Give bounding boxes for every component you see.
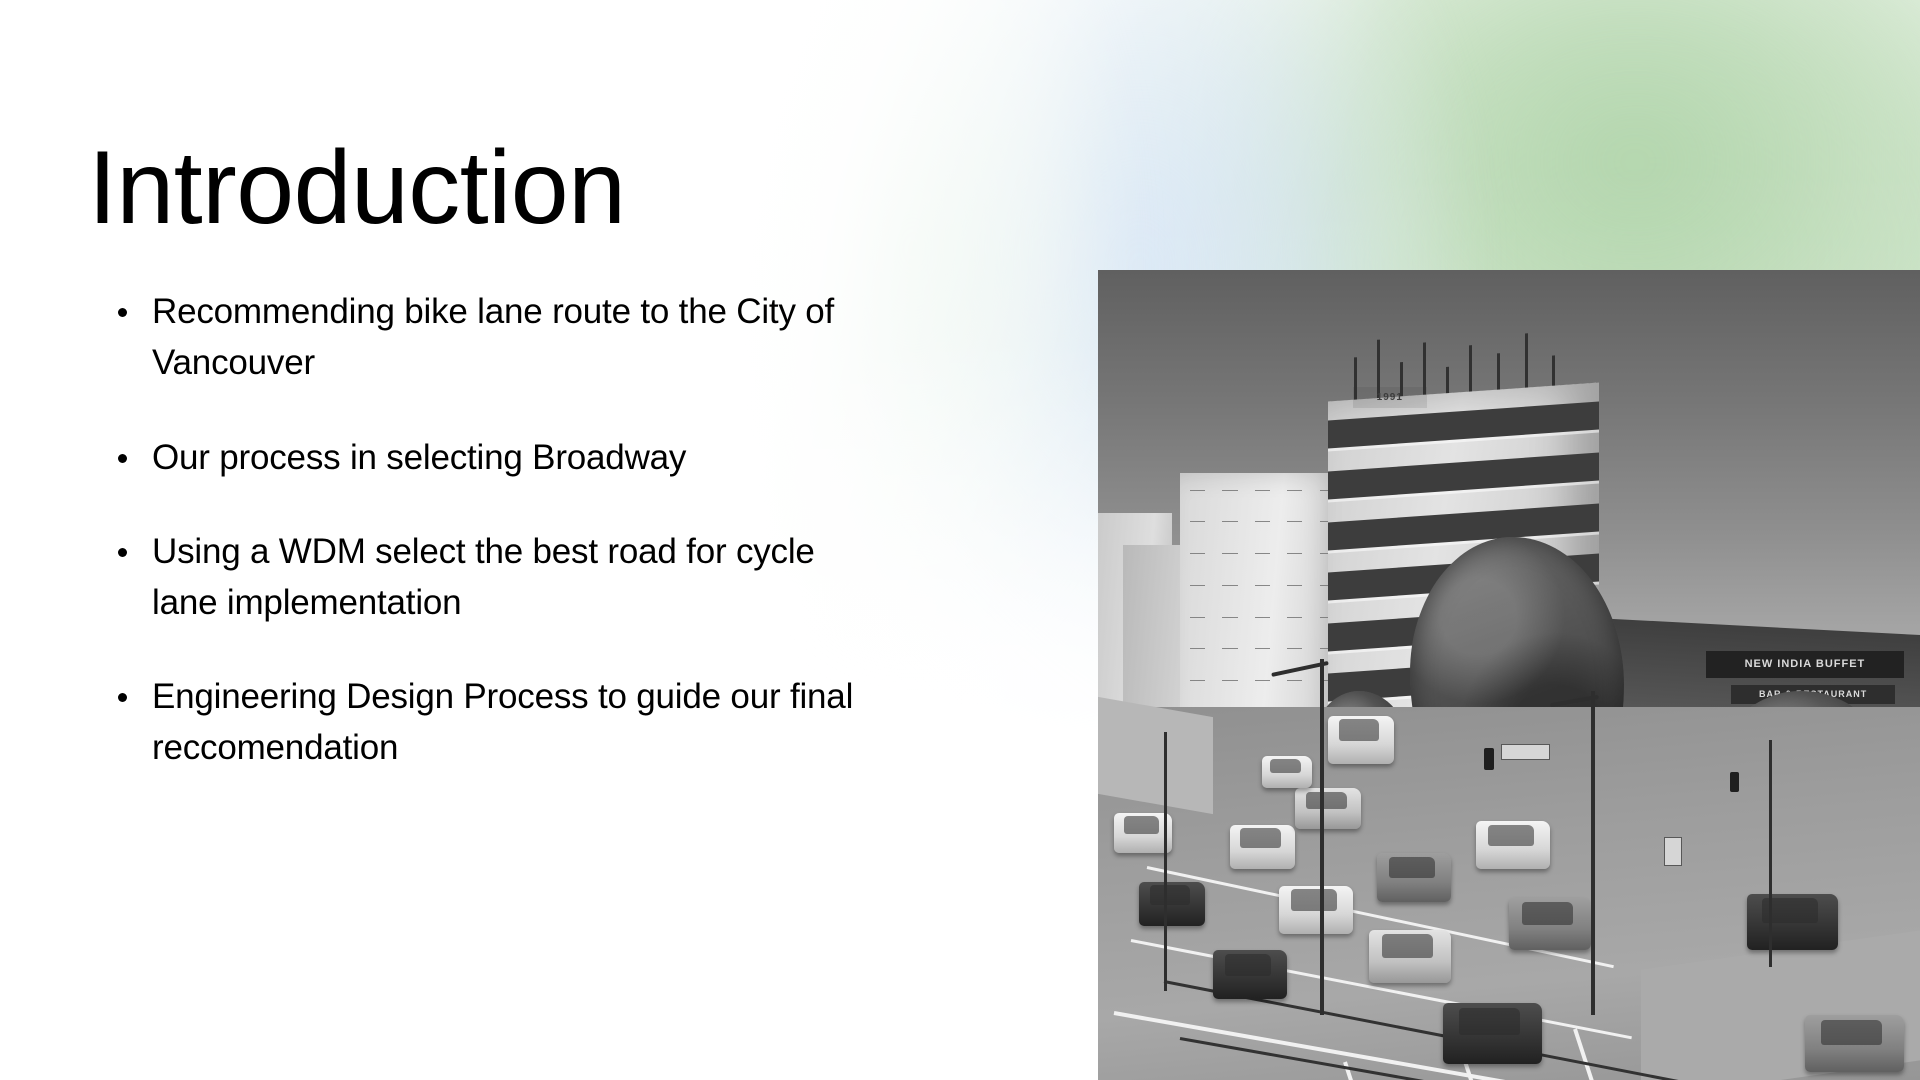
photo-traffic-signal — [1484, 748, 1494, 770]
bullet-dot-icon — [118, 548, 127, 557]
photo-vehicle — [1476, 821, 1550, 870]
photo-vehicle — [1369, 930, 1451, 983]
bullet-dot-icon — [118, 308, 127, 317]
bullet-list: Recommending bike lane route to the City… — [88, 286, 858, 773]
slide-content: Introduction Recommending bike lane rout… — [88, 132, 858, 773]
photo-vehicle — [1805, 1015, 1904, 1072]
list-item-label: Using a WDM select the best road for cyc… — [152, 526, 858, 628]
photo-vehicle — [1295, 788, 1361, 829]
photo-vehicle — [1262, 756, 1311, 788]
photo-traffic-signal — [1730, 772, 1739, 792]
photo-vehicle — [1139, 882, 1205, 927]
slide-photo: NEW INDIA BUFFET BAR & RESTAURANT 1991 — [1098, 270, 1920, 1080]
bullet-dot-icon — [118, 693, 127, 702]
photo-vehicle — [1213, 950, 1287, 999]
photo-vehicle — [1279, 886, 1353, 935]
photo-vehicle — [1443, 1003, 1542, 1064]
list-item: Recommending bike lane route to the City… — [88, 286, 858, 388]
photo-vehicle — [1377, 853, 1451, 902]
bullet-dot-icon — [118, 454, 127, 463]
photo-utility-pole — [1164, 732, 1167, 991]
photo-delivery-truck — [1328, 716, 1394, 765]
page-title: Introduction — [88, 132, 858, 244]
photo-vehicle — [1509, 898, 1591, 951]
photo-sign-address: 1991 — [1353, 387, 1427, 408]
list-item: Our process in selecting Broadway — [88, 432, 858, 483]
photo-light-pole — [1320, 659, 1324, 1015]
photo-vehicle — [1747, 894, 1837, 951]
photo-vehicle — [1230, 825, 1296, 870]
list-item: Engineering Design Process to guide our … — [88, 671, 858, 773]
list-item: Using a WDM select the best road for cyc… — [88, 526, 858, 628]
slide-canvas: Introduction Recommending bike lane rout… — [0, 0, 1920, 1080]
photo-window-grid — [1190, 490, 1335, 745]
photo-street-name-sign — [1501, 744, 1550, 760]
photo-parking-sign — [1664, 837, 1682, 866]
list-item-label: Our process in selecting Broadway — [152, 432, 858, 483]
photo-light-pole — [1591, 691, 1595, 1015]
photo-sidewalk — [1098, 697, 1213, 814]
list-item-label: Recommending bike lane route to the City… — [152, 286, 858, 388]
list-item-label: Engineering Design Process to guide our … — [152, 671, 858, 773]
photo-utility-pole — [1769, 740, 1772, 967]
streetscape-photograph: NEW INDIA BUFFET BAR & RESTAURANT 1991 — [1098, 270, 1920, 1080]
photo-sign-new-india-buffet: NEW INDIA BUFFET — [1706, 651, 1903, 679]
